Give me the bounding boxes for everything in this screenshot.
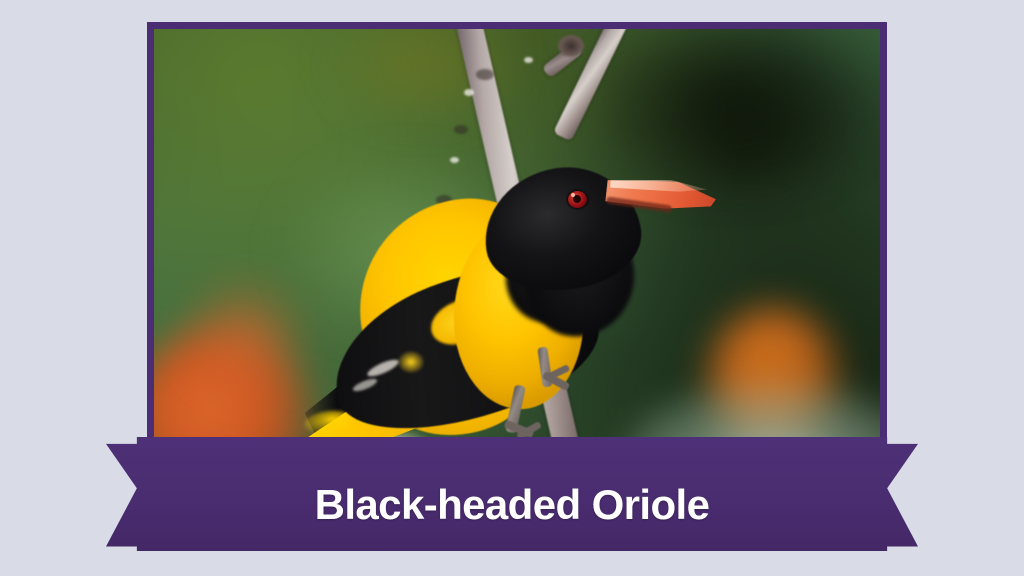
bird-black-headed-oriole	[154, 29, 880, 457]
poster-canvas: Black-headed Oriole	[0, 0, 1024, 576]
bird-wing-yellow-spot	[398, 351, 424, 373]
photo-frame	[147, 22, 887, 464]
caption-text: Black-headed Oriole	[106, 437, 918, 551]
bird-photograph	[154, 29, 880, 457]
bird-eye-glint	[571, 193, 575, 197]
